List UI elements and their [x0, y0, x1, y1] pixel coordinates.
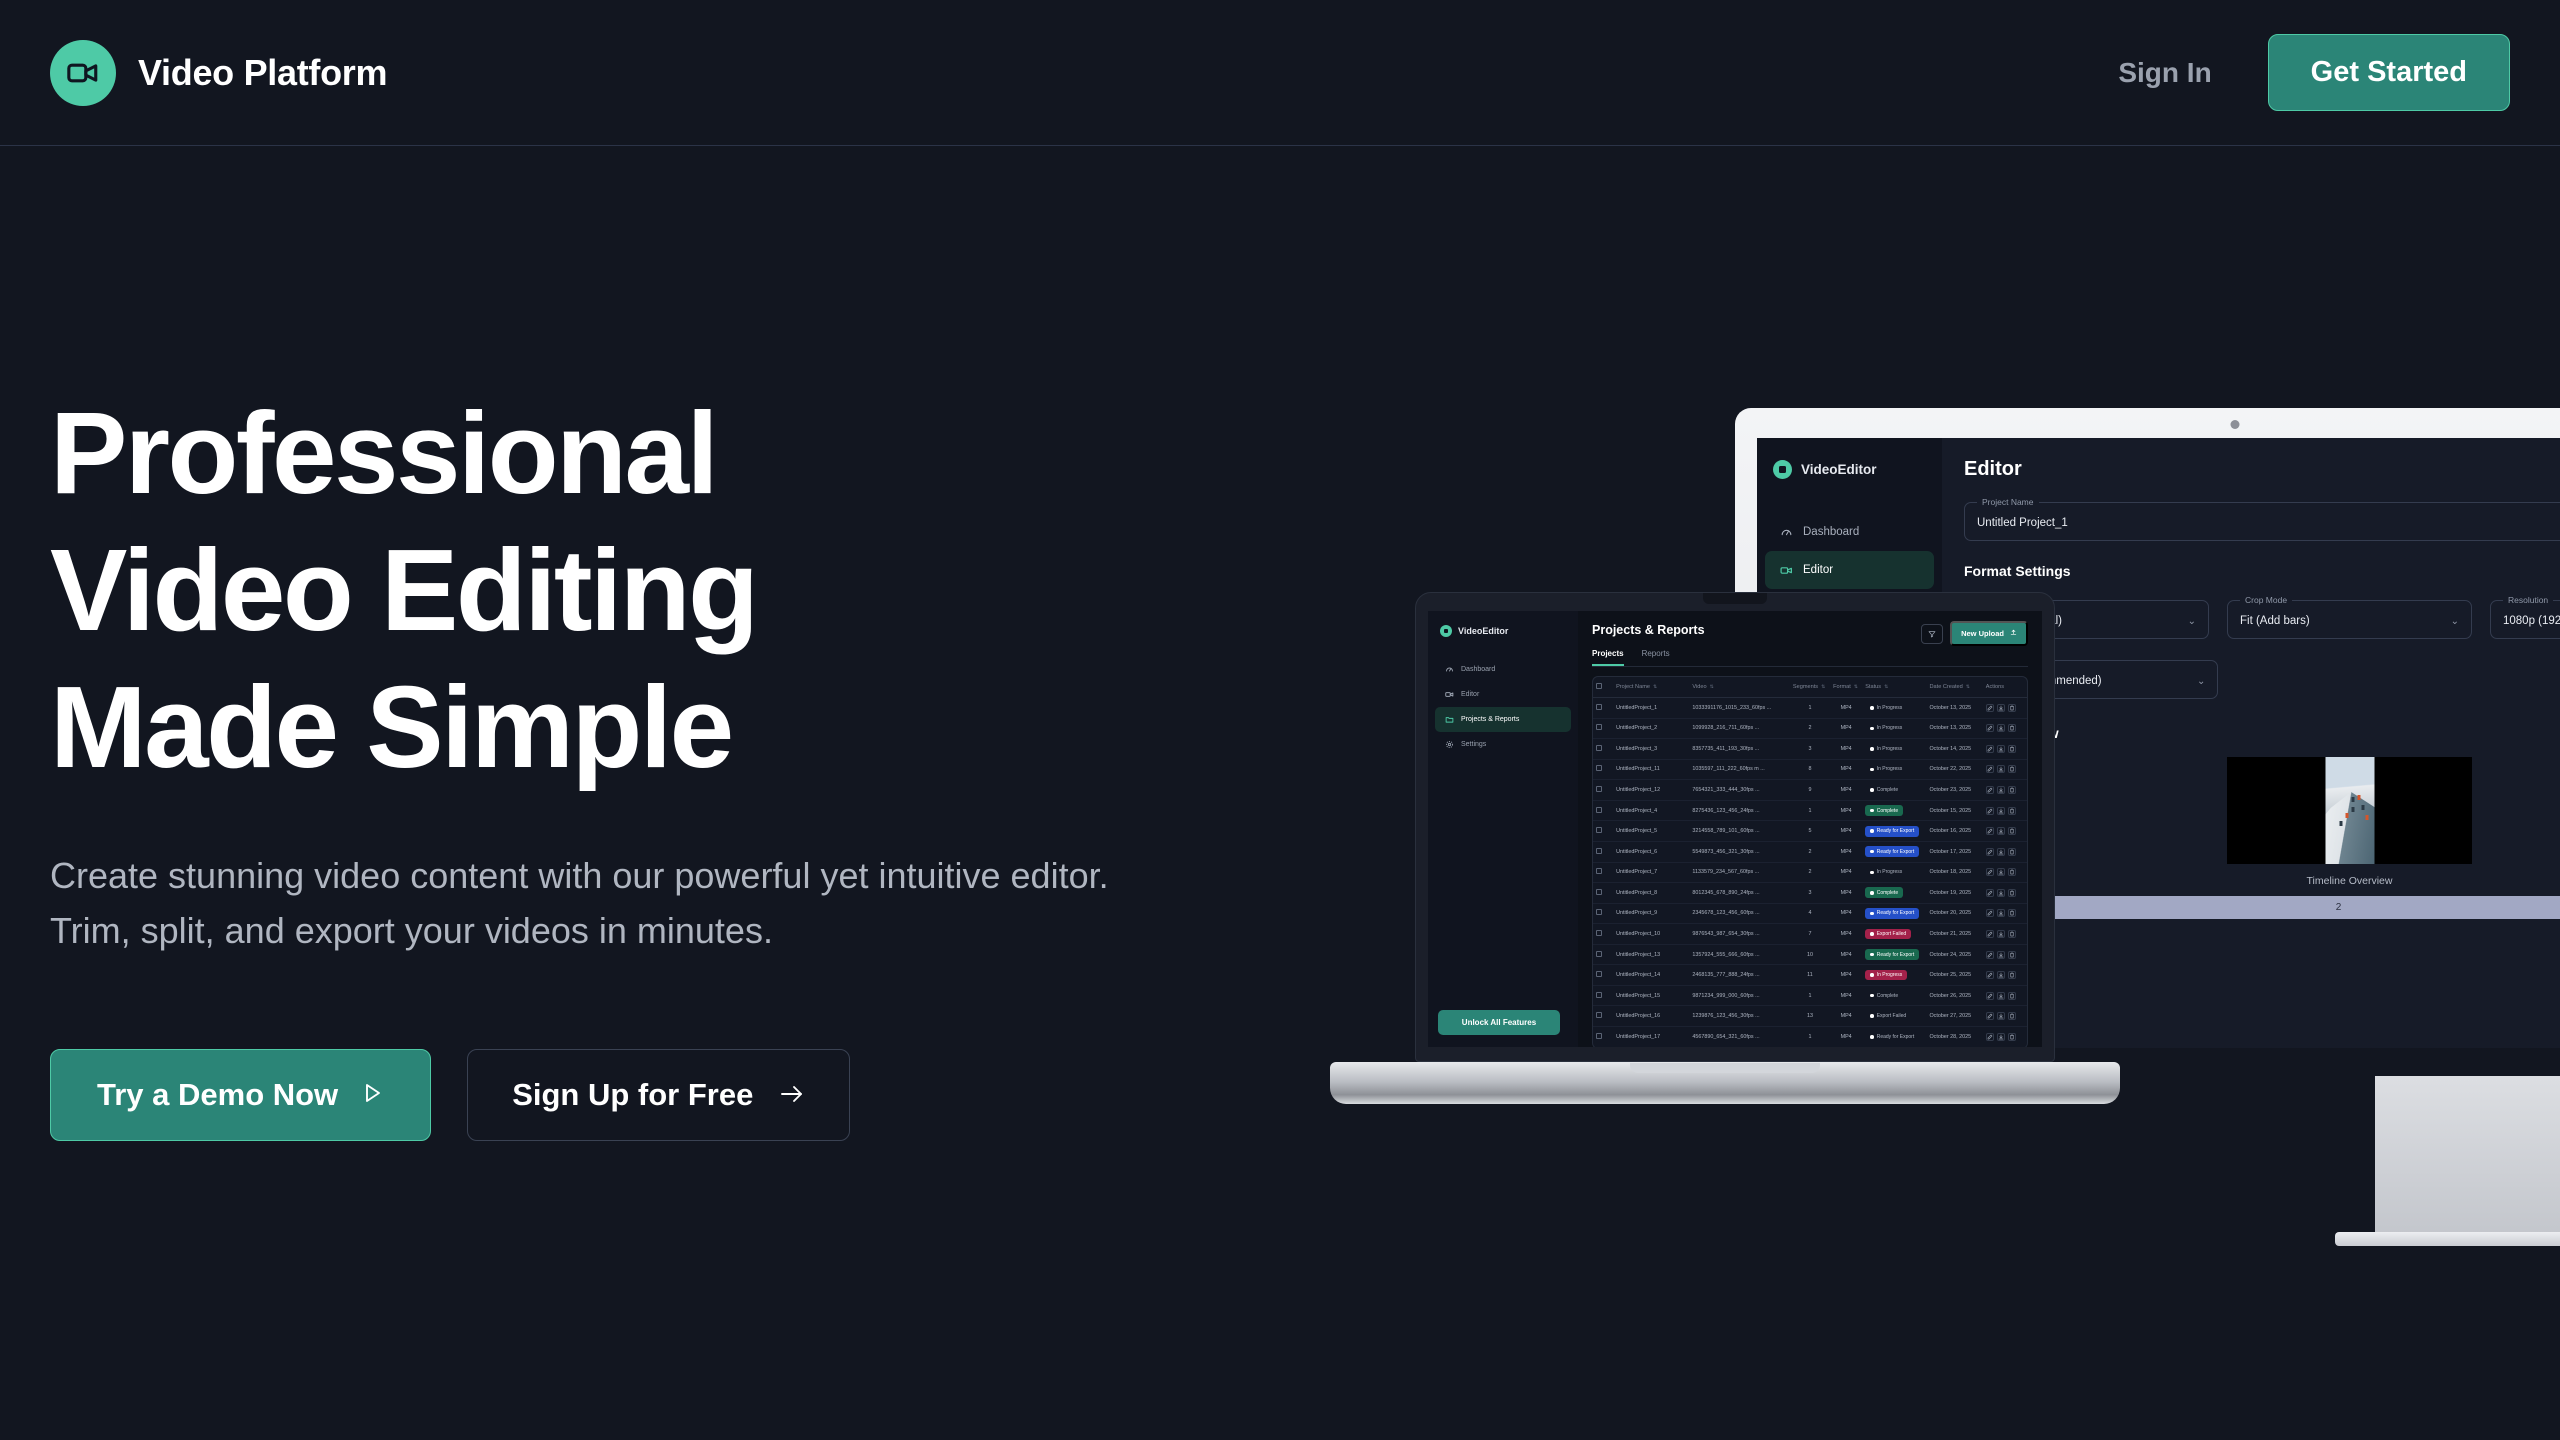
edit-icon[interactable]: [1986, 724, 1994, 732]
cell-segments: 3: [1790, 883, 1830, 904]
cell-segments: 7: [1790, 924, 1830, 945]
cell-video: 8275436_123_456_24fps ...: [1689, 800, 1789, 821]
download-icon[interactable]: [1997, 848, 2005, 856]
row-checkbox-cell[interactable]: [1593, 1006, 1613, 1027]
edit-icon[interactable]: [1986, 827, 1994, 835]
tab-projects[interactable]: Projects: [1592, 649, 1624, 666]
trash-icon[interactable]: [2008, 745, 2016, 753]
cell-format: MP4: [1830, 883, 1862, 904]
gauge-icon: [1779, 525, 1793, 539]
status-badge: Complete: [1865, 990, 1903, 1001]
cell-date-created: October 17, 2025: [1926, 841, 1982, 862]
cell-actions: [1983, 718, 2027, 739]
cell-actions: [1983, 862, 2027, 883]
row-checkbox[interactable]: [1596, 889, 1602, 895]
cell-status: In Progress: [1862, 718, 1926, 739]
cell-format: MP4: [1830, 759, 1862, 780]
trash-icon[interactable]: [2008, 724, 2016, 732]
col-date-created[interactable]: Date Created⇅: [1926, 677, 1982, 698]
cell-project-name: UntitledProject_12: [1613, 780, 1689, 801]
row-checkbox-cell[interactable]: [1593, 780, 1613, 801]
cell-status: Ready for Export: [1862, 1027, 1926, 1048]
row-checkbox[interactable]: [1596, 1012, 1602, 1018]
row-checkbox-cell[interactable]: [1593, 739, 1613, 760]
row-checkbox[interactable]: [1596, 971, 1602, 977]
cell-status: In Progress: [1862, 965, 1926, 986]
cell-actions: [1983, 985, 2027, 1006]
cell-segments: 3: [1790, 739, 1830, 760]
project-name-label: Project Name: [1977, 497, 2039, 507]
table-row[interactable]: UntitledProject_111035597_111_222_60fps …: [1593, 759, 2027, 780]
app-logo-icon: [1773, 460, 1792, 479]
row-checkbox[interactable]: [1596, 848, 1602, 854]
table-row[interactable]: UntitledProject_131357924_555_666_60fps …: [1593, 944, 2027, 965]
trash-icon[interactable]: [2008, 1033, 2016, 1041]
edit-icon[interactable]: [1986, 745, 1994, 753]
row-checkbox-cell[interactable]: [1593, 862, 1613, 883]
cell-format: MP4: [1830, 924, 1862, 945]
table-row[interactable]: UntitledProject_21099928_216_711_60fps .…: [1593, 718, 2027, 739]
projects-table-card: Project Name⇅ Video⇅ Segments⇅ Format⇅ S…: [1592, 676, 2028, 1047]
projects-brand: VideoEditor: [1428, 625, 1578, 637]
row-checkbox[interactable]: [1596, 827, 1602, 833]
table-header-row: Project Name⇅ Video⇅ Segments⇅ Format⇅ S…: [1593, 677, 2027, 698]
edit-icon[interactable]: [1986, 848, 1994, 856]
webcam-icon: [2231, 420, 2240, 429]
editor-page-title: Editor: [1964, 458, 2560, 481]
editor-brand-label: VideoEditor: [1801, 462, 1877, 477]
cell-video: 9871234_999_000_60fps ...: [1689, 985, 1789, 1006]
cell-segments: 1: [1790, 1027, 1830, 1048]
cell-date-created: October 14, 2025: [1926, 739, 1982, 760]
cell-video: 2468135_777_888_24fps ...: [1689, 965, 1789, 986]
landing-page: Video Platform Sign In Get Started Profe…: [0, 0, 2560, 1440]
row-checkbox[interactable]: [1596, 930, 1602, 936]
unlock-all-features-button[interactable]: Unlock All Features: [1438, 1010, 1560, 1035]
hero-title-line-1: Professional: [50, 385, 1150, 522]
cell-project-name: UntitledProject_4: [1613, 800, 1689, 821]
laptop-mockup: VideoEditor Dashboard Edit: [1330, 592, 2120, 1152]
table-row[interactable]: UntitledProject_159871234_999_000_60fps …: [1593, 985, 2027, 1006]
edit-icon[interactable]: [1986, 909, 1994, 917]
page-title: Professional Video Editing Made Simple: [50, 385, 1150, 796]
cell-actions: [1983, 821, 2027, 842]
cell-status: In Progress: [1862, 759, 1926, 780]
status-badge: Ready for Export: [1865, 826, 1919, 837]
play-triangle-icon: [360, 1077, 384, 1113]
download-icon[interactable]: [1997, 786, 2005, 794]
table-row[interactable]: UntitledProject_65549873_456_321_30fps .…: [1593, 841, 2027, 862]
cell-video: 8357735_411_193_30fps ...: [1689, 739, 1789, 760]
download-icon[interactable]: [1997, 951, 2005, 959]
cell-video: 1033391176_1015_233_60fps ...: [1689, 698, 1789, 719]
edit-icon[interactable]: [1986, 951, 1994, 959]
video-camera-icon: [50, 40, 116, 106]
trash-icon[interactable]: [2008, 848, 2016, 856]
cell-video: 4567890_654_321_60fps ...: [1689, 1027, 1789, 1048]
cell-actions: [1983, 924, 2027, 945]
cell-video: 1133579_234_567_60fps ...: [1689, 862, 1789, 883]
cell-date-created: October 24, 2025: [1926, 944, 1982, 965]
sort-icon: ⇅: [1710, 684, 1714, 690]
download-icon[interactable]: [1997, 745, 2005, 753]
format-settings-title: Format Settings: [1964, 563, 2560, 579]
status-badge: In Progress: [1865, 702, 1907, 713]
funnel-icon[interactable]: [1921, 624, 1943, 644]
get-started-button[interactable]: Get Started: [2268, 34, 2510, 111]
download-icon[interactable]: [1997, 909, 2005, 917]
status-badge: In Progress: [1865, 723, 1907, 734]
trash-icon[interactable]: [2008, 704, 2016, 712]
cell-format: MP4: [1830, 780, 1862, 801]
site-header: Video Platform Sign In Get Started: [0, 0, 2560, 146]
projects-brand-label: VideoEditor: [1458, 626, 1508, 636]
row-checkbox-cell[interactable]: [1593, 1027, 1613, 1048]
sign-in-link[interactable]: Sign In: [2118, 57, 2211, 89]
cell-format: MP4: [1830, 698, 1862, 719]
chevron-down-icon: ⌄: [2451, 616, 2459, 627]
download-icon[interactable]: [1997, 1012, 2005, 1020]
sidebar-item-projects-reports[interactable]: Projects & Reports: [1435, 707, 1571, 732]
status-badge: Ready for Export: [1865, 1031, 1919, 1042]
col-segments[interactable]: Segments⇅: [1790, 677, 1830, 698]
arrow-right-icon: [779, 1077, 805, 1113]
sidebar-label: Settings: [1461, 741, 1486, 748]
trash-icon[interactable]: [2008, 1012, 2016, 1020]
cell-format: MP4: [1830, 1006, 1862, 1027]
edit-icon[interactable]: [1986, 786, 1994, 794]
sort-icon: ⇅: [1854, 684, 1858, 690]
crop-mode-value: Fit (Add bars): [2240, 615, 2310, 627]
cell-project-name: UntitledProject_8: [1613, 883, 1689, 904]
cell-video: 7654321_333_444_30fps ...: [1689, 780, 1789, 801]
trash-icon[interactable]: [2008, 807, 2016, 815]
cell-format: MP4: [1830, 739, 1862, 760]
row-checkbox[interactable]: [1596, 704, 1602, 710]
cell-status: Ready for Export: [1862, 903, 1926, 924]
cell-segments: 9: [1790, 780, 1830, 801]
edit-icon[interactable]: [1986, 704, 1994, 712]
download-icon[interactable]: [1997, 889, 2005, 897]
col-actions: Actions: [1983, 677, 2027, 698]
trash-icon[interactable]: [2008, 889, 2016, 897]
download-icon[interactable]: [1997, 992, 2005, 1000]
row-checkbox[interactable]: [1596, 745, 1602, 751]
cell-segments: 8: [1790, 759, 1830, 780]
sidebar-label: Dashboard: [1803, 526, 1859, 538]
cell-date-created: October 22, 2025: [1926, 759, 1982, 780]
trash-icon[interactable]: [2008, 930, 2016, 938]
projects-tabs: Projects Reports: [1592, 649, 2028, 667]
table-row[interactable]: UntitledProject_161239876_123_456_30fps …: [1593, 1006, 2027, 1027]
cell-status: Ready for Export: [1862, 944, 1926, 965]
sidebar-item-dashboard[interactable]: Dashboard: [1435, 657, 1571, 682]
tab-reports[interactable]: Reports: [1642, 649, 1670, 666]
brand-logo[interactable]: Video Platform: [50, 40, 387, 106]
cell-segments: 1: [1790, 985, 1830, 1006]
cell-actions: [1983, 883, 2027, 904]
cell-date-created: October 28, 2025: [1926, 1027, 1982, 1048]
cell-segments: 4: [1790, 903, 1830, 924]
trash-icon[interactable]: [2008, 951, 2016, 959]
row-checkbox[interactable]: [1596, 1033, 1602, 1039]
cell-actions: [1983, 1027, 2027, 1048]
cell-segments: 2: [1790, 862, 1830, 883]
cell-status: In Progress: [1862, 739, 1926, 760]
trash-icon[interactable]: [2008, 765, 2016, 773]
sidebar-label: Projects & Reports: [1461, 716, 1519, 723]
sidebar-item-dashboard[interactable]: Dashboard: [1765, 513, 1934, 551]
col-format[interactable]: Format⇅: [1830, 677, 1862, 698]
brand-name: Video Platform: [138, 52, 387, 94]
table-row[interactable]: UntitledProject_53214558_789_101_60fps .…: [1593, 821, 2027, 842]
table-row[interactable]: UntitledProject_38357735_411_193_30fps .…: [1593, 739, 2027, 760]
status-badge: Complete: [1865, 785, 1903, 796]
status-badge: In Progress: [1865, 744, 1907, 755]
download-icon[interactable]: [1997, 868, 2005, 876]
row-checkbox-cell[interactable]: [1593, 718, 1613, 739]
cell-project-name: UntitledProject_1: [1613, 698, 1689, 719]
hero-section: Professional Video Editing Made Simple C…: [50, 385, 1150, 1141]
crop-mode-select[interactable]: Crop Mode Fit (Add bars) ⌄: [2227, 595, 2472, 639]
projects-table-body: UntitledProject_11033391176_1015_233_60f…: [1593, 698, 2027, 1048]
col-project-name[interactable]: Project Name⇅: [1613, 677, 1689, 698]
status-badge: Export Failed: [1865, 1011, 1911, 1022]
device-mockups: VideoEditor Dashboard Edit: [1330, 380, 2560, 1220]
cell-video: 1357924_555_666_60fps ...: [1689, 944, 1789, 965]
hero-subtitle: Create stunning video content with our p…: [50, 848, 1110, 960]
cell-date-created: October 19, 2025: [1926, 883, 1982, 904]
app-logo-icon: [1440, 625, 1452, 637]
cell-format: MP4: [1830, 965, 1862, 986]
cell-status: Ready for Export: [1862, 821, 1926, 842]
video-camera-icon: [1779, 563, 1793, 577]
cell-video: 9876543_987_654_30fps ...: [1689, 924, 1789, 945]
hero-title-line-2: Video Editing: [50, 522, 1150, 659]
row-checkbox-cell[interactable]: [1593, 965, 1613, 986]
try-demo-button[interactable]: Try a Demo Now: [50, 1049, 431, 1141]
select-all-checkbox[interactable]: [1596, 683, 1602, 689]
cell-project-name: UntitledProject_14: [1613, 965, 1689, 986]
sort-icon: ⇅: [1966, 684, 1970, 690]
projects-table: Project Name⇅ Video⇅ Segments⇅ Format⇅ S…: [1593, 677, 2027, 1047]
cell-date-created: October 16, 2025: [1926, 821, 1982, 842]
status-badge: Complete: [1865, 887, 1903, 898]
sidebar-item-editor[interactable]: Editor: [1765, 551, 1934, 589]
cell-status: In Progress: [1862, 862, 1926, 883]
table-row[interactable]: UntitledProject_142468135_777_888_24fps …: [1593, 965, 2027, 986]
gauge-icon: [1445, 665, 1454, 674]
download-icon[interactable]: [1997, 930, 2005, 938]
monitor-stand-foot: [2335, 1232, 2560, 1246]
hero-title-line-3: Made Simple: [50, 659, 1150, 796]
row-checkbox-cell[interactable]: [1593, 841, 1613, 862]
row-checkbox-cell[interactable]: [1593, 985, 1613, 1006]
table-row[interactable]: UntitledProject_48275436_123_456_24fps .…: [1593, 800, 2027, 821]
trash-icon[interactable]: [2008, 827, 2016, 835]
cell-date-created: October 26, 2025: [1926, 985, 1982, 1006]
cell-video: 8012345_678_890_24fps ...: [1689, 883, 1789, 904]
table-row[interactable]: UntitledProject_174567890_654_321_60fps …: [1593, 1027, 2027, 1048]
row-checkbox[interactable]: [1596, 951, 1602, 957]
cell-date-created: October 27, 2025: [1926, 1006, 1982, 1027]
table-row[interactable]: UntitledProject_71133579_234_567_60fps .…: [1593, 862, 2027, 883]
cell-video: 1035597_111_222_60fps m ...: [1689, 759, 1789, 780]
edit-icon[interactable]: [1986, 765, 1994, 773]
row-checkbox[interactable]: [1596, 807, 1602, 813]
cell-video: 2345678_123_456_60fps ...: [1689, 903, 1789, 924]
cell-segments: 13: [1790, 1006, 1830, 1027]
col-video[interactable]: Video⇅: [1689, 677, 1789, 698]
cell-actions: [1983, 965, 2027, 986]
cell-date-created: October 13, 2025: [1926, 698, 1982, 719]
download-icon[interactable]: [1997, 724, 2005, 732]
new-upload-label: New Upload: [1961, 629, 2004, 638]
sort-icon: ⇅: [1884, 684, 1888, 690]
trash-icon[interactable]: [2008, 909, 2016, 917]
status-badge: Ready for Export: [1865, 949, 1919, 960]
download-icon[interactable]: [1997, 971, 2005, 979]
laptop-screen: VideoEditor Dashboard Edit: [1428, 611, 2042, 1047]
row-checkbox[interactable]: [1596, 724, 1602, 730]
cell-actions: [1983, 841, 2027, 862]
laptop-notch: [1703, 593, 1767, 604]
sign-up-label: Sign Up for Free: [512, 1077, 753, 1113]
cell-actions: [1983, 800, 2027, 821]
trash-icon[interactable]: [2008, 992, 2016, 1000]
cell-format: MP4: [1830, 718, 1862, 739]
row-checkbox-cell[interactable]: [1593, 759, 1613, 780]
edit-icon[interactable]: [1986, 930, 1994, 938]
row-checkbox[interactable]: [1596, 992, 1602, 998]
sidebar-item-editor[interactable]: Editor: [1435, 682, 1571, 707]
cell-status: Complete: [1862, 883, 1926, 904]
cell-project-name: UntitledProject_2: [1613, 718, 1689, 739]
table-row[interactable]: UntitledProject_109876543_987_654_30fps …: [1593, 924, 2027, 945]
edit-icon[interactable]: [1986, 1012, 1994, 1020]
cell-date-created: October 20, 2025: [1926, 903, 1982, 924]
video-camera-icon: [1445, 690, 1454, 699]
cell-format: MP4: [1830, 944, 1862, 965]
status-badge: In Progress: [1865, 970, 1907, 981]
row-checkbox-cell[interactable]: [1593, 944, 1613, 965]
edit-icon[interactable]: [1986, 868, 1994, 876]
cell-project-name: UntitledProject_9: [1613, 903, 1689, 924]
status-badge: Complete: [1865, 805, 1903, 816]
cell-actions: [1983, 780, 2027, 801]
cell-video: 1239876_123_456_30fps ...: [1689, 1006, 1789, 1027]
cell-format: MP4: [1830, 1027, 1862, 1048]
cell-project-name: UntitledProject_5: [1613, 821, 1689, 842]
trash-icon[interactable]: [2008, 786, 2016, 794]
cell-project-name: UntitledProject_7: [1613, 862, 1689, 883]
cell-actions: [1983, 944, 2027, 965]
edit-icon[interactable]: [1986, 971, 1994, 979]
cell-format: MP4: [1830, 903, 1862, 924]
cell-segments: 1: [1790, 698, 1830, 719]
cell-date-created: October 13, 2025: [1926, 718, 1982, 739]
video-preview-canvas: [2227, 757, 2472, 864]
resolution-select[interactable]: Resolution 1080p (1920x1080) ⌄: [2490, 595, 2560, 639]
sidebar-label: Editor: [1803, 564, 1833, 576]
cell-format: MP4: [1830, 800, 1862, 821]
sidebar-item-settings[interactable]: Settings: [1435, 732, 1571, 757]
row-checkbox-cell[interactable]: [1593, 821, 1613, 842]
video-frame-thumbnail: [2325, 757, 2374, 864]
cell-segments: 5: [1790, 821, 1830, 842]
sign-up-button[interactable]: Sign Up for Free: [467, 1049, 850, 1141]
cell-date-created: October 23, 2025: [1926, 780, 1982, 801]
cell-video: 1099928_216_711_60fps ...: [1689, 718, 1789, 739]
trash-icon[interactable]: [2008, 868, 2016, 876]
col-status[interactable]: Status⇅: [1862, 677, 1926, 698]
status-badge: In Progress: [1865, 764, 1907, 775]
cell-actions: [1983, 903, 2027, 924]
gear-icon: [1445, 740, 1454, 749]
table-row[interactable]: UntitledProject_88012345_678_890_24fps .…: [1593, 883, 2027, 904]
row-checkbox-cell[interactable]: [1593, 924, 1613, 945]
sidebar-label: Dashboard: [1461, 666, 1495, 673]
cell-date-created: October 25, 2025: [1926, 965, 1982, 986]
cell-status: Complete: [1862, 985, 1926, 1006]
download-icon[interactable]: [1997, 704, 2005, 712]
cell-project-name: UntitledProject_3: [1613, 739, 1689, 760]
table-row[interactable]: UntitledProject_92345678_123_456_60fps .…: [1593, 903, 2027, 924]
monitor-stand-neck: [2375, 1076, 2560, 1236]
laptop-lid: VideoEditor Dashboard Edit: [1415, 592, 2055, 1062]
cell-format: MP4: [1830, 985, 1862, 1006]
col-select[interactable]: [1593, 677, 1613, 698]
resolution-label: Resolution: [2503, 595, 2553, 605]
row-checkbox[interactable]: [1596, 868, 1602, 874]
cell-actions: [1983, 698, 2027, 719]
cell-actions: [1983, 739, 2027, 760]
sidebar-label: Editor: [1461, 691, 1479, 698]
download-icon[interactable]: [1997, 765, 2005, 773]
download-icon[interactable]: [1997, 1033, 2005, 1041]
project-name-field[interactable]: Project Name Untitled Project_1: [1964, 497, 2560, 541]
row-checkbox[interactable]: [1596, 909, 1602, 915]
cell-project-name: UntitledProject_6: [1613, 841, 1689, 862]
cell-project-name: UntitledProject_13: [1613, 944, 1689, 965]
row-checkbox-cell[interactable]: [1593, 903, 1613, 924]
projects-toolbar: New Upload: [1921, 621, 2028, 646]
row-checkbox[interactable]: [1596, 786, 1602, 792]
cell-status: In Progress: [1862, 698, 1926, 719]
download-icon[interactable]: [1997, 807, 2005, 815]
edit-icon[interactable]: [1986, 889, 1994, 897]
cell-video: 5549873_456_321_30fps ...: [1689, 841, 1789, 862]
status-badge: In Progress: [1865, 867, 1907, 878]
edit-icon[interactable]: [1986, 992, 1994, 1000]
cell-actions: [1983, 759, 2027, 780]
cell-segments: 2: [1790, 718, 1830, 739]
row-checkbox-cell[interactable]: [1593, 800, 1613, 821]
cell-format: MP4: [1830, 821, 1862, 842]
download-icon[interactable]: [1997, 827, 2005, 835]
table-row[interactable]: UntitledProject_127654321_333_444_30fps …: [1593, 780, 2027, 801]
edit-icon[interactable]: [1986, 807, 1994, 815]
trash-icon[interactable]: [2008, 971, 2016, 979]
new-upload-button[interactable]: New Upload: [1950, 621, 2028, 646]
table-row[interactable]: UntitledProject_11033391176_1015_233_60f…: [1593, 698, 2027, 719]
edit-icon[interactable]: [1986, 1033, 1994, 1041]
cell-project-name: UntitledProject_10: [1613, 924, 1689, 945]
cell-actions: [1983, 1006, 2027, 1027]
row-checkbox-cell[interactable]: [1593, 698, 1613, 719]
row-checkbox[interactable]: [1596, 765, 1602, 771]
row-checkbox-cell[interactable]: [1593, 883, 1613, 904]
